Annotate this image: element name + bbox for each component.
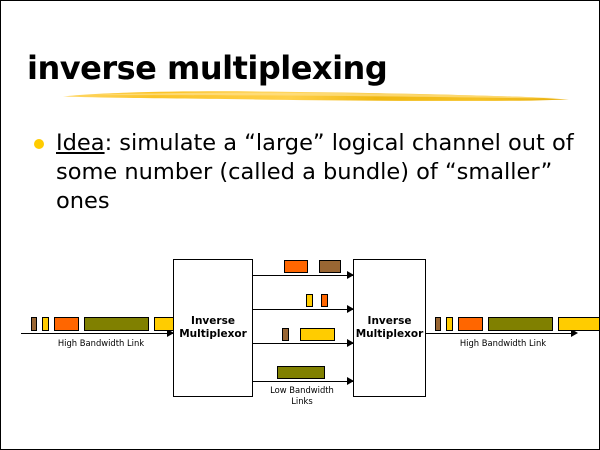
low-bandwidth-packet [277, 366, 325, 379]
right-mux-label-line1: Inverse [368, 315, 412, 328]
bullet-body-text: : simulate a “large” logical channel out… [56, 130, 574, 214]
inverse-multiplexing-diagram: High Bandwidth Link Inverse Multiplexor … [1, 241, 600, 441]
low-bandwidth-wire-2 [253, 309, 353, 310]
low-bandwidth-packet [300, 328, 335, 341]
slide-title: inverse multiplexing [27, 49, 387, 87]
low-bandwidth-packet [306, 294, 313, 307]
right-stream-packet [488, 317, 553, 331]
low-bandwidth-packet [282, 328, 289, 341]
low-bandwidth-links-label-line2: Links [257, 396, 347, 407]
right-mux-label-line2: Multiplexor [356, 328, 424, 341]
low-bandwidth-wire-3 [253, 343, 353, 344]
left-stream-packet [31, 317, 37, 331]
low-bandwidth-wire-1 [253, 275, 353, 276]
low-bandwidth-wire-4 [253, 381, 353, 382]
right-packet-stream [435, 317, 600, 333]
left-mux-label-line2: Multiplexor [179, 328, 247, 341]
bullet-lead-underlined: Idea [56, 130, 105, 156]
low-bandwidth-packet [319, 260, 341, 273]
right-stream-packet [446, 317, 453, 331]
right-inverse-multiplexor-box[interactable]: Inverse Multiplexor [353, 259, 426, 397]
bullet-item: Idea: simulate a “large” logical channel… [56, 129, 574, 216]
low-bandwidth-links-label-line1: Low Bandwidth [257, 385, 347, 396]
left-high-bandwidth-wire [21, 333, 173, 334]
low-bandwidth-packet [321, 294, 328, 307]
bullet-list: Idea: simulate a “large” logical channel… [34, 129, 574, 216]
right-stream-packet [458, 317, 483, 331]
right-high-bandwidth-wire [426, 333, 576, 334]
low-bandwidth-packet [284, 260, 308, 273]
slide-canvas: inverse multiplexing Idea: simulate a “l… [0, 0, 600, 450]
title-brush-underline [61, 89, 571, 103]
left-inverse-multiplexor-box[interactable]: Inverse Multiplexor [173, 259, 253, 397]
left-stream-packet [54, 317, 79, 331]
low-bandwidth-packets-4 [273, 366, 353, 380]
low-bandwidth-packets-1 [273, 260, 353, 274]
low-bandwidth-packets-2 [273, 294, 353, 308]
right-stream-packet [558, 317, 600, 331]
left-high-bandwidth-label: High Bandwidth Link [39, 338, 163, 349]
left-mux-label-line1: Inverse [191, 315, 235, 328]
low-bandwidth-packets-3 [273, 328, 353, 342]
right-stream-packet [435, 317, 441, 331]
left-stream-packet [42, 317, 49, 331]
left-stream-packet [84, 317, 149, 331]
bullet-marker-icon [34, 139, 44, 149]
right-high-bandwidth-label: High Bandwidth Link [441, 338, 565, 349]
